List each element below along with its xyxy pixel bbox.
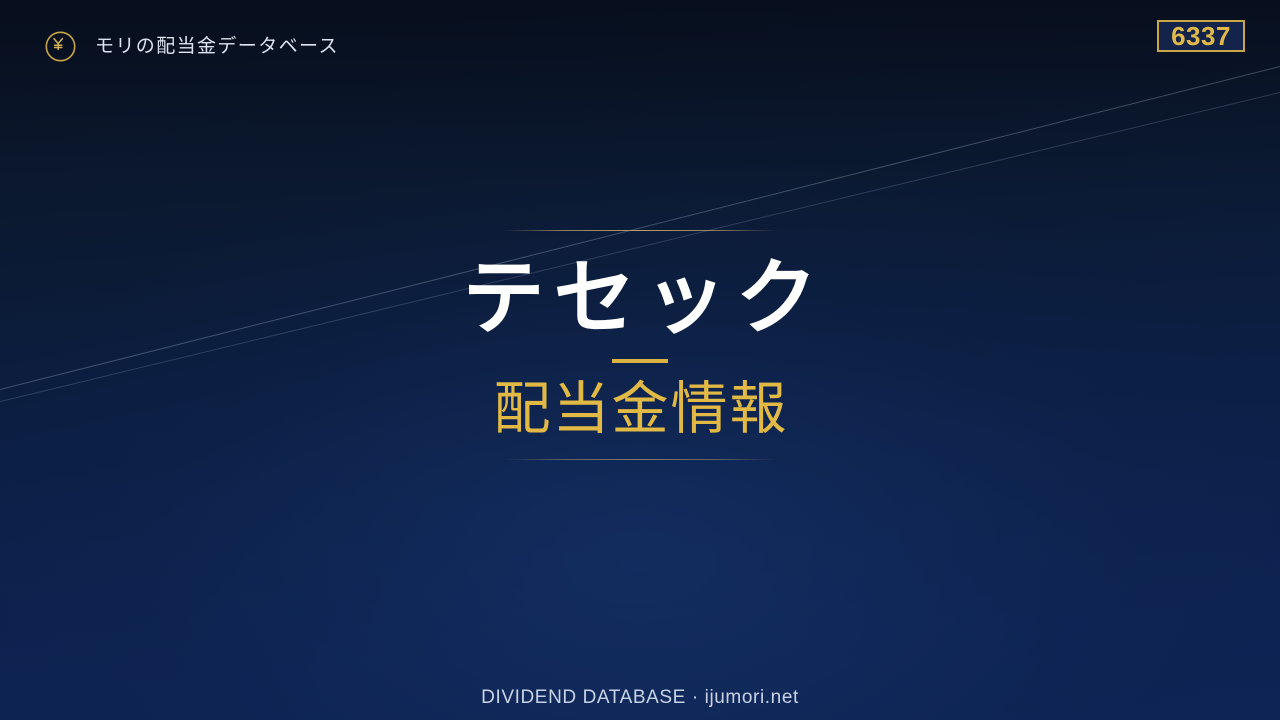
page-footer: DIVIDEND DATABASE · ijumori.net — [0, 688, 1280, 708]
slide-root: モリの配当金データベース 6337 テセック 配当金情報 DIVIDEND DA… — [0, 0, 1280, 720]
divider-gold-dash — [612, 359, 668, 363]
title-block: テセック 配当金情報 — [0, 0, 1280, 720]
company-name: テセック — [453, 257, 826, 341]
divider-bottom — [504, 459, 776, 460]
divider-top — [504, 230, 776, 231]
footer-text: DIVIDEND DATABASE · ijumori.net — [481, 687, 799, 708]
page-subtitle: 配当金情報 — [491, 379, 788, 439]
title-block-inner: テセック 配当金情報 — [453, 230, 826, 459]
